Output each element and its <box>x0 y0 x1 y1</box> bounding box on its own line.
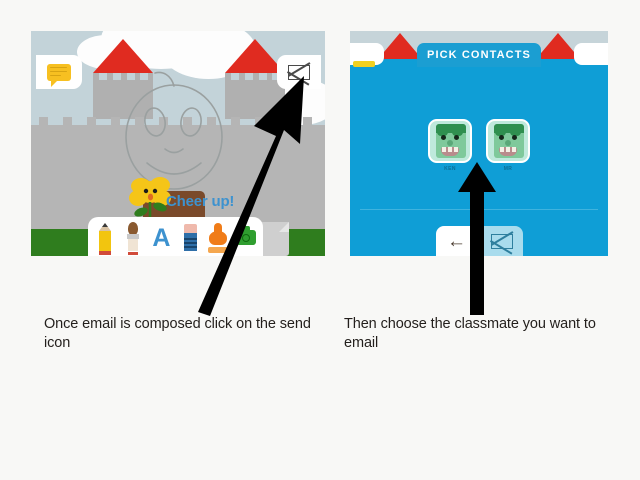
merlon <box>279 117 288 125</box>
send-button[interactable] <box>277 55 321 89</box>
email-compose-screen: Cheer up! A <box>31 31 325 256</box>
page-title: PICK CONTACTS <box>417 43 541 67</box>
back-button[interactable]: ← <box>436 226 478 256</box>
castle-tower <box>225 39 285 119</box>
avatar <box>428 119 472 163</box>
screenshot-root: Cheer up! A <box>0 0 640 480</box>
eraser-tool[interactable] <box>179 221 201 255</box>
avatar <box>486 119 530 163</box>
speech-bubble-icon <box>353 61 375 67</box>
stamp-tool[interactable] <box>207 221 229 255</box>
send-button[interactable] <box>481 226 523 256</box>
contacts-list: KEN MR <box>350 119 608 172</box>
text-tool[interactable]: A <box>150 221 172 255</box>
merlon <box>255 117 264 125</box>
drawing-text: Cheer up! <box>166 193 234 210</box>
contact-name: MR <box>504 166 513 172</box>
merlon <box>303 117 312 125</box>
divider <box>360 209 598 210</box>
merlon <box>87 117 96 125</box>
contact-item[interactable]: KEN <box>427 119 473 172</box>
castle-tower <box>378 33 422 59</box>
speech-bubble-icon <box>47 64 71 81</box>
letter-a-icon: A <box>152 226 170 251</box>
merlon <box>39 117 48 125</box>
bottom-bar: ← <box>350 222 608 256</box>
camera-tool[interactable] <box>235 221 257 255</box>
merlon <box>63 117 72 125</box>
envelope-icon <box>288 65 310 80</box>
envelope-icon <box>491 234 513 249</box>
send-button-top[interactable] <box>574 43 608 65</box>
tool-tray: A <box>88 217 263 256</box>
paintbrush-tool[interactable] <box>122 221 144 255</box>
pick-contacts-screen: PICK CONTACTS KEN <box>350 31 608 256</box>
message-button[interactable] <box>36 55 82 89</box>
caption-left: Once email is composed click on the send… <box>44 315 314 354</box>
caption-right: Then choose the classmate you want to em… <box>344 315 609 354</box>
contact-name: KEN <box>444 166 456 172</box>
pencil-tool[interactable] <box>94 221 116 255</box>
merlon <box>231 117 240 125</box>
contact-item[interactable]: MR <box>485 119 531 172</box>
back-arrow-icon: ← <box>447 232 466 251</box>
